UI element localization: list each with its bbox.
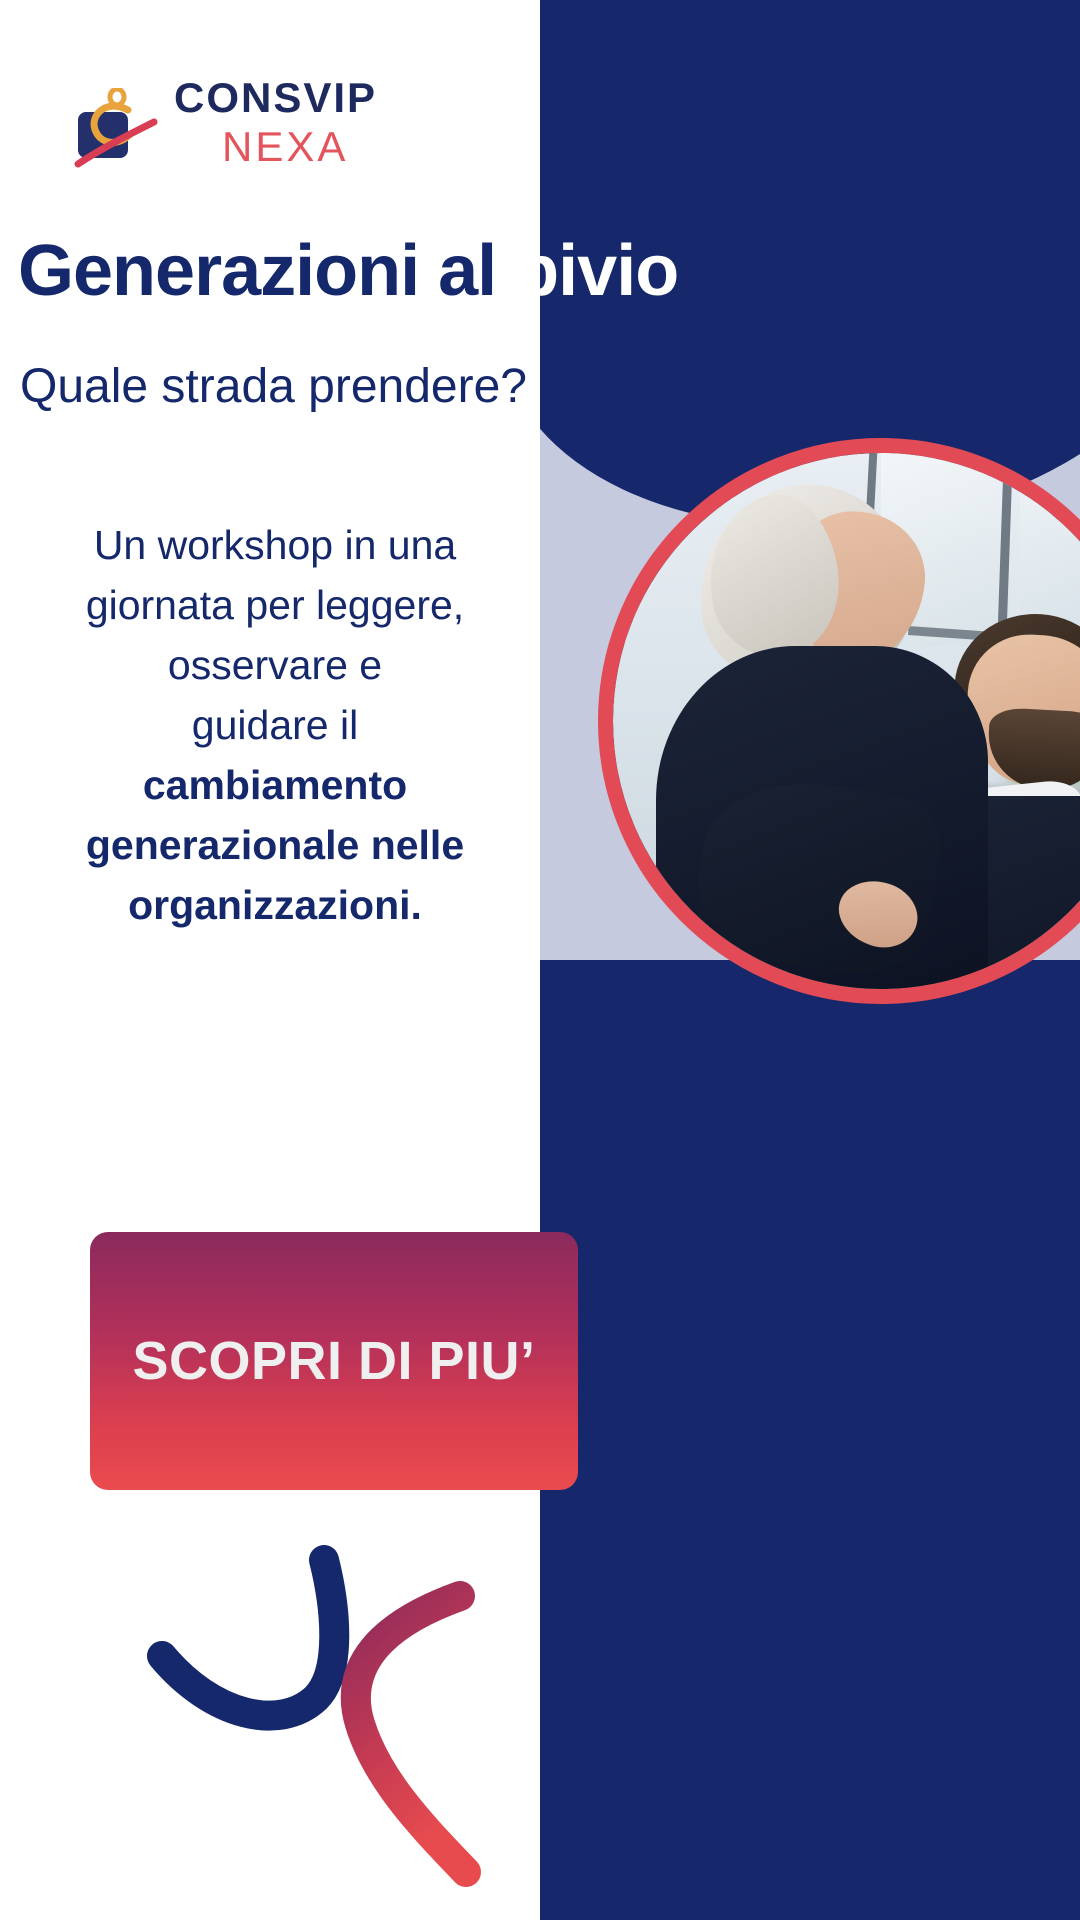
page-subtitle: Quale strada prendere? [20, 358, 640, 416]
headline-part-one: Generazioni al [18, 231, 496, 311]
description-line-2: giornata per leggere, [86, 582, 464, 628]
discover-more-button[interactable]: SCOPRI DI PIU’ [90, 1232, 578, 1490]
description-line-4: guidare il [192, 702, 358, 748]
consvip-logo-icon [72, 88, 162, 168]
blue-panel-lower [540, 960, 1080, 1920]
decorative-swoosh-icon [120, 1520, 540, 1920]
description-bold-1: cambiamento [143, 762, 407, 808]
brand-logo[interactable]: CONSVIP NEXA [72, 72, 492, 192]
description-paragraph: Un workshop in una giornata per leggere,… [40, 515, 510, 935]
logo-nexa-text: NEXA [222, 122, 377, 172]
logo-consvip-text: CONSVIP [174, 72, 377, 124]
logo-wordmark: CONSVIP NEXA [174, 72, 377, 172]
description-line-3: osservare e [168, 642, 382, 688]
headline-part-two: bivio [515, 231, 678, 311]
hero-photo-circle [598, 438, 1080, 1004]
hero-photo [613, 453, 1080, 989]
description-line-1: Un workshop in una [94, 522, 456, 568]
page-title: Generazioni al bivio [18, 228, 938, 314]
description-bold-2: generazionale nelle [86, 822, 464, 868]
description-bold-3: organizzazioni. [128, 882, 422, 928]
